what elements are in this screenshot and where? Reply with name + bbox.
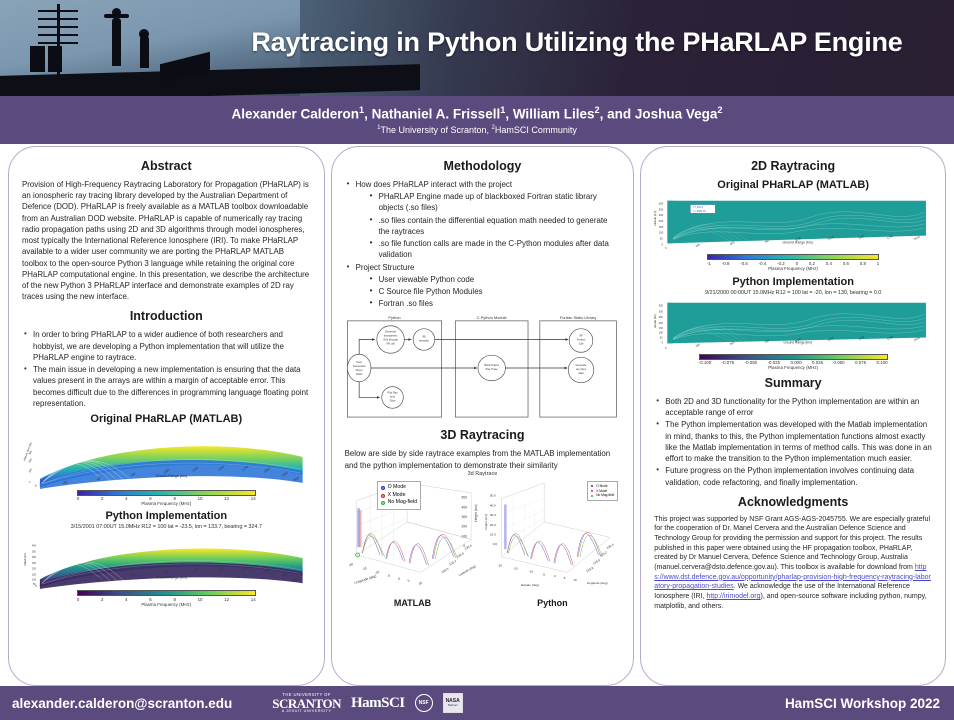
tick: 0 [77,597,79,602]
summary-bullets: Both 2D and 3D functionality for the Pyt… [654,396,932,488]
poster-footer: alexander.calderon@scranton.edu THE UNIV… [0,686,954,720]
legend-item: No Mag-field [591,493,615,498]
svg-text:300: 300 [32,558,37,560]
svg-text:0: 0 [34,483,38,487]
tick: 1 [877,261,879,266]
matlab-x-axis-label: Ground Range (km) [155,474,187,478]
tick: 10 [198,496,203,501]
iri-model-link[interactable]: http://irimodel.org [706,593,760,600]
tick: 14 [251,597,256,602]
svg-text:300: 300 [659,207,664,211]
matlab-2d-colorbar: -1 -0.8 -0.6 -0.4 -0.2 0 0.2 0.4 0.6 0.8… [654,254,932,271]
svg-text:10: 10 [417,581,422,586]
list-item: Project Structure User viewable Python c… [345,262,621,310]
list-item: Future progress on the Python implementa… [654,465,932,487]
raytracing3d-text: Below are side by side raytrace examples… [345,448,621,470]
tick: 0 [77,496,79,501]
legend-label: O Mode [388,484,406,492]
matlab-3d-plot: O Mode X Mode No Mag-field [345,479,481,608]
tick: 4 [125,496,127,501]
raytracing2d-heading: 2D Raytracing [654,159,932,173]
ack-part1: This project was supported by NSF Grant … [654,516,930,571]
diagram-group-label: Fortran Static Library [559,315,596,320]
author-list: Alexander Calderon1, Nathaniel A. Frisse… [232,105,723,122]
python-colorbar: 0 2 4 6 8 10 12 14 Plasma Frequency (MHz… [22,590,311,607]
svg-text:-20: -20 [498,563,503,567]
contact-email: alexander.calderon@scranton.edu [12,696,232,711]
svg-text:10.0: 10.0 [490,532,496,536]
raytracing3d-heading: 3D Raytracing [345,428,621,442]
svg-text:40.0: 40.0 [490,503,496,507]
svg-text:100: 100 [32,580,37,582]
legend-label: No Mag-field [388,499,417,507]
svg-text:50: 50 [660,336,663,339]
tick: 0.050 [834,360,845,365]
python-x-axis-label: latitude (deg) [521,583,539,587]
introduction-heading: Introduction [22,309,311,323]
tick: 2 [101,496,103,501]
affiliation-list: 1The University of Scranton, 2HamSCI Com… [377,124,577,135]
svg-text:Generate: Generate [385,330,397,334]
svg-text:129.8: 129.8 [586,566,595,573]
colorbar-label: Plasma Frequency (MHz) [77,501,256,506]
svg-text:0: 0 [662,242,664,246]
matlab-x-axis-label: Longitude (deg) [353,574,376,585]
rooftop-box-icon [48,46,62,72]
list-item: In order to bring PHaRLAP to a wider aud… [22,329,311,363]
tick: 0.2 [809,261,815,266]
o-mode-marker-icon [591,485,594,488]
tick: 0 [796,261,798,266]
svg-text:150: 150 [659,326,664,329]
svg-text:arrayobj: arrayobj [419,339,429,343]
python-rainbow-raytrace-figure: 0 250 500 750 1000 1250 1500 1750 2000 2… [22,531,311,589]
svg-text:350: 350 [659,202,664,206]
plot3d-title: 3d Raytrace [345,471,621,477]
svg-text:-20: -20 [348,562,354,567]
svg-text:100: 100 [659,231,664,235]
column-methodology: Methodology How does PHaRLAP interact wi… [331,146,635,686]
sub-list: PHaRLAP Engine made up of blackboxed For… [368,191,621,260]
svg-text:20.0: 20.0 [490,523,496,527]
svg-text:150: 150 [32,575,37,577]
list-item: .so file function calls are made in the … [368,238,621,260]
legend-label: X Mode [388,492,406,500]
tick: 10 [198,597,203,602]
colorbar-gradient [77,490,256,496]
nsf-logo: NSF [415,694,433,712]
matlab-z-axis-label: Height (km) [474,504,478,521]
list-item-label: How does PHaRLAP interact with the proje… [356,180,512,189]
diagram-group-label: C Python Module [476,315,506,320]
tick: -0.4 [759,261,767,266]
svg-text:30.0: 30.0 [490,513,496,517]
svg-text:IRI: IRI [422,335,426,339]
colorbar-label: Plasma Frequency (MHz) [707,266,879,271]
poster-banner: Raytracing in Python Utilizing the PHaRL… [0,0,954,96]
legend-item: X Mode [381,492,417,500]
column-abstract-introduction: Abstract Provision of High-Frequency Ray… [8,146,325,686]
python-2d-teal-figure: 350300250 200150100 500 altitude (km) 0 … [654,297,932,353]
svg-text:altitude (km): altitude (km) [654,313,657,327]
svg-text:User: User [356,360,362,364]
svg-text:50: 50 [660,236,663,240]
methodology-heading: Methodology [345,159,621,173]
list-item-label: Project Structure [356,263,415,272]
person-silhouette-icon [112,18,121,66]
o-mode-marker-icon [381,486,385,490]
scranton-logo-bottom: A JESUIT UNIVERSITY [272,710,341,714]
svg-text:10: 10 [574,578,578,582]
tick: -0.100 [699,360,711,365]
list-item: PHaRLAP Engine made up of blackboxed For… [368,191,621,213]
python-2d-colorbar: -0.100 -0.075 -0.050 -0.025 0.000 0.025 … [654,354,932,371]
sponsor-logos: THE UNIVERSITY OF SCRANTON A JESUIT UNIV… [272,693,462,714]
abstract-heading: Abstract [22,159,311,173]
legend-item: O Mode [381,484,417,492]
antenna-crossbar-icon [38,10,78,12]
svg-text:300: 300 [659,310,664,313]
nasa-logo-bottom: Partner [448,704,458,707]
python-plot-subtitle: 3/15/2001 07:00UT 15.0MHz R12 = 100 lat … [22,524,311,530]
page-title: Raytracing in Python Utilizing the PHaRL… [200,0,954,96]
svg-text:-10: -10 [529,569,534,573]
svg-text:350: 350 [659,304,664,307]
colorbar-gradient [77,590,256,596]
matlab-2d-teal-figure: f = 462.0f = 6583.40 350300250 200150100… [654,193,932,253]
introduction-bullets: In order to bring PHaRLAP to a wider aud… [22,329,311,409]
svg-text:5: 5 [407,578,410,582]
svg-text:Grid through: Grid through [383,338,398,342]
svg-text:250: 250 [695,242,701,248]
tick: -0.2 [777,261,785,266]
svg-text:Ground Range (km): Ground Range (km) [783,240,813,244]
colorbar-gradient [707,254,879,260]
svg-text:IRI: IRI [579,334,583,338]
architecture-flow-diagram: Python C Python Module Fortran Static Li… [345,313,621,426]
svg-text:Class: Class [355,372,362,376]
tick: 0.8 [860,261,866,266]
svg-text:130.4: 130.4 [606,542,615,549]
plot-legend: O Mode X Mode No Mag-field [587,481,619,501]
svg-text:200: 200 [27,457,33,463]
svg-text:250: 250 [659,213,664,217]
x-mode-marker-icon [381,494,385,498]
antenna-crossbar-icon [38,42,78,44]
matlab-plot-title: Original PHaRLAP (MATLAB) [22,413,311,425]
colorbar-label: Plasma Frequency (MHz) [77,602,256,607]
matlab-3d-caption: MATLAB [345,598,481,608]
svg-text:200: 200 [659,219,664,223]
tick: 0.100 [877,360,888,365]
python-z-axis-label: height (km) [484,514,488,529]
tick: 0.6 [843,261,849,266]
plot-legend: O Mode X Mode No Mag-field [377,481,421,510]
tick: 0.075 [855,360,866,365]
svg-text:Fortran: Fortran [576,338,585,342]
svg-text:-15: -15 [514,566,519,570]
nasa-partner-logo: NASA Partner [443,693,463,713]
legend-item: No Mag-field [381,499,417,507]
svg-text:f = 462.0: f = 462.0 [694,206,704,209]
hamsci-logo: HamSCI [351,695,405,712]
scranton-logo-main: SCRANTON [272,697,341,710]
antenna-crossbar-icon [38,34,78,36]
svg-text:50.0: 50.0 [490,494,496,498]
list-item: How does PHaRLAP interact with the proje… [345,179,621,261]
python-x-axis-label: Ground Range (km) [156,576,188,580]
python-plot-title: Python Implementation [22,510,311,522]
svg-text:Altitude (km): Altitude (km) [24,553,27,566]
list-item: .so files contain the differential equat… [368,215,621,237]
svg-text:200: 200 [659,322,664,325]
tick: -0.050 [745,360,757,365]
svg-text:Iono: Iono [390,395,396,399]
list-item: User viewable Python code [368,274,621,285]
list-item: Both 2D and 3D functionality for the Pyt… [654,396,932,418]
3d-plot-row: O Mode X Mode No Mag-field [345,479,621,608]
svg-text:130.0: 130.0 [440,567,449,574]
list-item: C Source file Python Modules [368,286,621,297]
svg-text:250: 250 [659,316,664,319]
person-silhouette-icon [140,36,149,68]
svg-text:0: 0 [662,341,664,344]
tick: -1 [707,261,711,266]
svg-text:130.2: 130.2 [448,559,457,566]
svg-text:400: 400 [27,441,33,447]
abstract-text: Provision of High-Frequency Raytracing L… [22,179,311,302]
svg-text:Generate: Generate [575,363,587,367]
tick: 12 [224,496,229,501]
tick: -0.8 [722,261,730,266]
svg-text:250: 250 [695,342,701,348]
scranton-logo: THE UNIVERSITY OF SCRANTON A JESUIT UNIV… [272,693,341,714]
matlab-y-axis-label: Latitude (deg) [458,564,477,577]
sub-list: User viewable Python code C Source file … [368,274,621,310]
tick: 2 [101,597,103,602]
acknowledgments-heading: Acknowledgments [654,495,932,509]
python-2d-plot-block: Python Implementation 3/15/2001 07:00UT … [22,510,311,607]
svg-text:150: 150 [659,225,664,229]
svg-text:-5: -5 [543,572,546,576]
no-mag-marker-icon [381,501,385,505]
svg-text:Ground Range (km): Ground Range (km) [784,340,813,344]
svg-text:-5: -5 [386,573,390,578]
python-2d-title: Python Implementation [654,276,932,288]
svg-text:400: 400 [32,546,37,548]
no-mag-marker-icon [591,495,594,498]
svg-text:300: 300 [461,515,467,519]
python-2d-subtitle: 9/21/2000 00:00UT 15.0MHz R12 = 100 lat … [654,290,932,296]
svg-text:Call: Call [578,342,583,346]
methodology-bullets: How does PHaRLAP interact with the proje… [345,179,621,309]
svg-text:IRI call: IRI call [386,342,394,346]
svg-text:-15: -15 [361,566,367,571]
svg-text:100: 100 [461,534,467,538]
rooftop-box-icon [30,46,45,72]
svg-text:400: 400 [461,505,467,509]
svg-text:Build Output: Build Output [484,363,499,367]
svg-text:Altitude (km): Altitude (km) [654,211,657,226]
svg-text:250: 250 [32,563,37,565]
antenna-crossbar-icon [38,26,78,28]
svg-text:Generated: Generated [352,364,365,368]
matlab-colorbar: 0 2 4 6 8 10 12 14 Plasma Frequency (MHz… [22,490,311,507]
svg-text:0: 0 [27,480,31,484]
svg-text:Driver: Driver [355,368,362,372]
svg-text:100: 100 [659,331,664,334]
svg-text:0: 0 [664,345,668,349]
list-item: The main issue in developing a new imple… [22,364,311,409]
tick: 12 [224,597,229,602]
svg-text:0: 0 [554,574,556,578]
colorbar-gradient [699,354,888,360]
svg-text:Slice: Slice [389,399,395,403]
legend-label: No Mag-field [596,493,614,498]
list-item: The Python implementation was developed … [654,419,932,464]
svg-text:f = 6583.40: f = 6583.40 [694,210,707,213]
list-item: Fortran .so files [368,298,621,309]
matlab-2d-title: Original PHaRLAP (MATLAB) [654,179,932,191]
svg-text:200: 200 [32,569,37,571]
antenna-crossbar-icon [38,18,78,20]
summary-heading: Summary [654,376,932,390]
matlab-2d-plot-block: Original PHaRLAP (MATLAB) [22,413,311,507]
tick: 0.4 [826,261,832,266]
author-bar: Alexander Calderon1, Nathaniel A. Frisse… [0,96,954,144]
tick: 14 [251,496,256,501]
svg-text:Ray Trace: Ray Trace [485,367,498,371]
svg-text:200: 200 [461,525,467,529]
svg-text:Plot Ray: Plot Ray [387,391,398,395]
svg-text:350: 350 [32,552,37,554]
python-y-axis-label: longitude (deg) [587,581,608,585]
tick: 4 [125,597,127,602]
poster-columns: Abstract Provision of High-Frequency Ray… [0,146,954,686]
tick: -0.6 [740,261,748,266]
svg-text:5: 5 [564,576,566,580]
column-results-summary: 2D Raytracing Original PHaRLAP (MATLAB) [640,146,946,686]
svg-text:0.0: 0.0 [493,542,498,546]
matlab-rainbow-raytrace-figure: 0 250 500 750 1000 1250 1500 1750 2000 2… [22,427,311,489]
svg-text:130.4: 130.4 [456,551,465,558]
acknowledgments-text: This project was supported by NSF Grant … [654,515,932,612]
svg-text:0: 0 [664,246,668,250]
svg-text:130.0: 130.0 [593,558,602,565]
svg-text:data: data [578,371,584,375]
python-3d-plot: O Mode X Mode No Mag-field [484,479,620,608]
svg-text:0: 0 [397,576,400,580]
svg-text:500: 500 [461,495,467,499]
colorbar-label: Plasma Frequency (MHz) [699,365,888,370]
diagram-group-label: Python [388,315,400,320]
x-mode-marker-icon [591,490,594,493]
workshop-label: HamSCI Workshop 2022 [785,696,940,711]
svg-text:100: 100 [27,467,33,473]
svg-text:ray trace: ray trace [575,367,586,371]
tick: -0.075 [722,360,734,365]
python-3d-caption: Python [484,598,620,608]
svg-text:Ionospheric: Ionospheric [383,334,397,338]
